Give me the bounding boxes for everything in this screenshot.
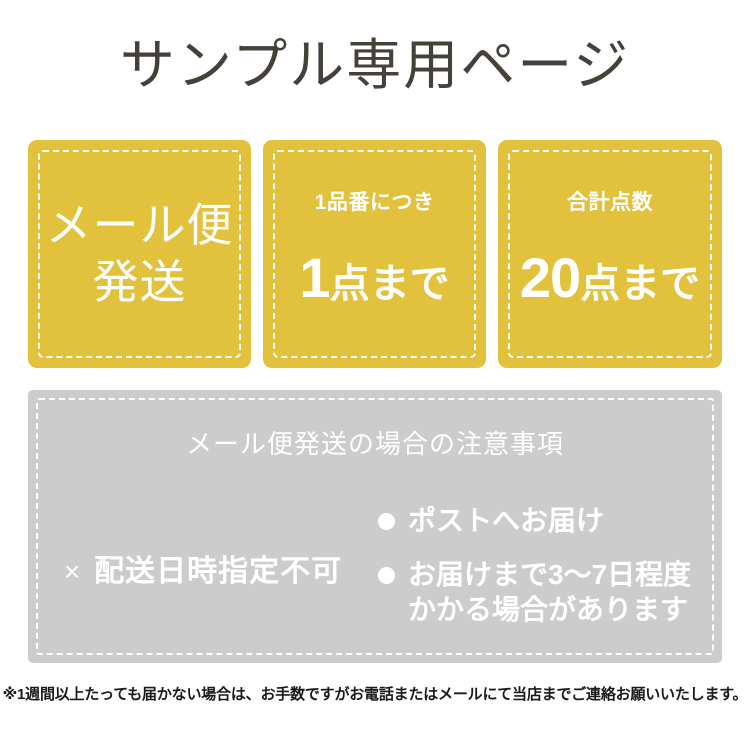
- cross-icon: ×: [64, 558, 81, 586]
- page-title: サンプル専用ページ: [0, 32, 750, 98]
- notice-left-column: × 配送日時指定不可: [28, 502, 378, 642]
- bullet-line-1: お届けまで3〜7日程度: [408, 559, 691, 590]
- bullet-dot-icon: [378, 513, 395, 530]
- bullet-line-1: ポストへお届け: [408, 505, 604, 536]
- card-per-item-limit-number: 1: [299, 246, 329, 309]
- card-total-limit-content: 合計点数 20点まで: [498, 190, 722, 319]
- list-item: お届けまで3〜7日程度 かかる場合があります: [378, 557, 722, 627]
- notice-heading: メール便発送の場合の注意事項: [28, 427, 722, 461]
- card-total-limit-unit: 点まで: [580, 262, 700, 306]
- card-total-limit-number: 20: [520, 246, 580, 309]
- footnote-text: ※1週間以上たっても届かない場合は、お手数ですがお電話またはメールにて当店までご…: [0, 684, 750, 706]
- card-total-limit-value: 20点まで: [498, 252, 722, 319]
- no-date-designation-item: × 配送日時指定不可: [64, 553, 342, 591]
- list-item: ポストへお届け: [378, 503, 722, 538]
- sample-page-banner: サンプル専用ページ メール便 発送 1品番につき 1点まで 合計点数: [0, 0, 750, 750]
- bullet-text-group: ポストへお届け: [408, 503, 604, 538]
- card-per-item-limit-unit: 点まで: [330, 262, 450, 306]
- notice-panel: メール便発送の場合の注意事項 × 配送日時指定不可 ポストへお届け: [28, 390, 722, 663]
- card-total-limit: 合計点数 20点まで: [498, 140, 722, 368]
- bullet-dot-icon: [378, 567, 395, 584]
- bullet-line-2: かかる場合があります: [408, 592, 691, 627]
- card-mail-delivery: メール便 発送: [28, 140, 251, 368]
- card-per-item-limit-value: 1点まで: [263, 252, 486, 319]
- info-cards-row: メール便 発送 1品番につき 1点まで 合計点数 20点まで: [28, 140, 722, 368]
- card-mail-delivery-line1: メール便: [28, 197, 251, 254]
- notice-body: × 配送日時指定不可 ポストへお届け お届けまで3〜7日程度 かかる場合がありま…: [28, 502, 722, 642]
- card-per-item-limit-content: 1品番につき 1点まで: [263, 190, 486, 319]
- notice-right-column: ポストへお届け お届けまで3〜7日程度 かかる場合があります: [378, 502, 722, 627]
- no-date-designation-label: 配送日時指定不可: [94, 553, 342, 591]
- card-per-item-limit: 1品番につき 1点まで: [263, 140, 486, 368]
- card-per-item-limit-label: 1品番につき: [263, 190, 486, 216]
- card-mail-delivery-line2: 発送: [28, 254, 251, 311]
- card-total-limit-label: 合計点数: [498, 190, 722, 216]
- card-mail-delivery-content: メール便 発送: [28, 197, 251, 311]
- bullet-text-group: お届けまで3〜7日程度 かかる場合があります: [408, 557, 691, 627]
